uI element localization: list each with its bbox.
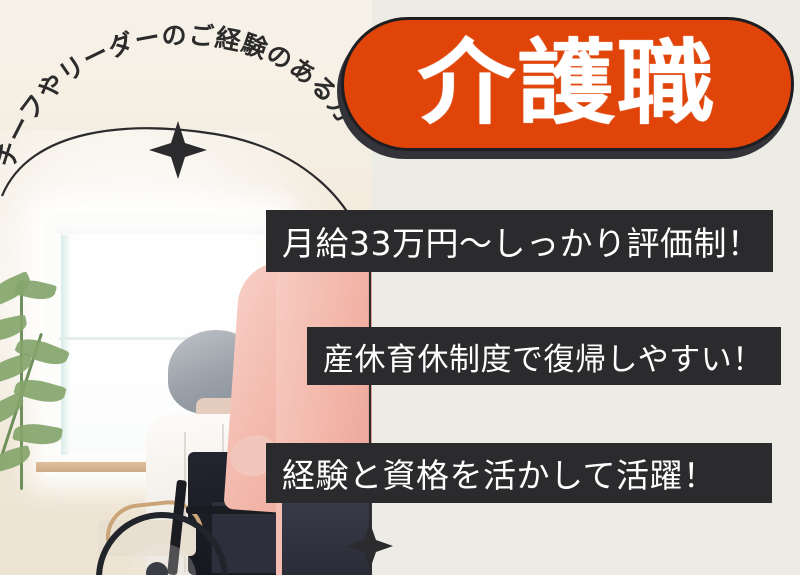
feature-strip-salary-text: 月給33万円〜しっかり評価制！ bbox=[282, 217, 761, 265]
job-title-text: 介護職 bbox=[418, 38, 717, 130]
caregiver-pants bbox=[282, 496, 372, 575]
arc-catchcopy: チーフやリーダーのご経験のある方 bbox=[0, 18, 360, 188]
feature-strip-leave-text: 産休育休制度で復帰しやすい！ bbox=[323, 334, 764, 379]
window-blind-bar bbox=[57, 223, 265, 234]
potted-plant bbox=[0, 270, 116, 500]
feature-strip-experience: 経験と資格を活かして活躍！ bbox=[266, 443, 772, 503]
feature-strip-leave: 産休育休制度で復帰しやすい！ bbox=[307, 327, 781, 385]
feature-strip-experience-text: 経験と資格を活かして活躍！ bbox=[282, 449, 717, 497]
feature-strip-salary: 月給33万円〜しっかり評価制！ bbox=[266, 210, 773, 272]
job-ad-banner: チーフやリーダーのご経験のある方 介護職 月給33万円〜しっかり評価制！ 産休育… bbox=[0, 0, 800, 575]
arc-catchcopy-text: チーフやリーダーのご経験のある方 bbox=[0, 20, 361, 171]
job-title-badge: 介護職 bbox=[341, 17, 794, 151]
